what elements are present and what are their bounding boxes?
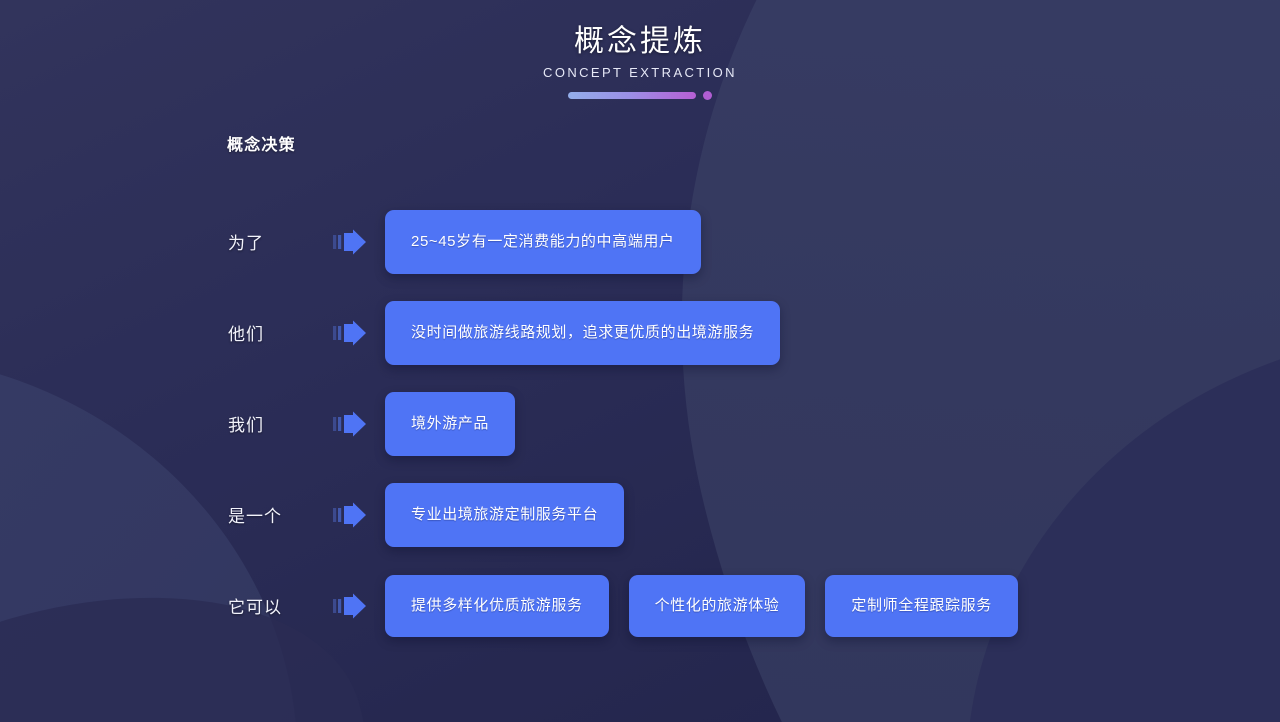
concept-row: 我们境外游产品 [0, 378, 1280, 469]
concept-card[interactable]: 专业出境旅游定制服务平台 [385, 483, 624, 547]
concept-card[interactable]: 25~45岁有一定消费能力的中高端用户 [385, 210, 701, 274]
row-label: 他们 [228, 320, 333, 345]
row-label: 是一个 [228, 502, 333, 527]
slide-canvas: 概念提炼 CONCEPT EXTRACTION 概念决策 为了25~45岁有一定… [0, 0, 1280, 722]
fast-forward-arrow-icon [333, 320, 385, 346]
concept-card[interactable]: 提供多样化优质旅游服务 [385, 575, 609, 637]
fast-forward-arrow-icon [333, 593, 385, 619]
row-card-group: 专业出境旅游定制服务平台 [385, 483, 624, 547]
concept-card[interactable]: 定制师全程跟踪服务 [825, 575, 1017, 637]
accent-dot-icon [703, 91, 712, 100]
concept-row: 它可以提供多样化优质旅游服务个性化的旅游体验定制师全程跟踪服务 [0, 560, 1280, 651]
concept-card[interactable]: 个性化的旅游体验 [629, 575, 806, 637]
row-label: 我们 [228, 411, 333, 436]
row-label: 它可以 [228, 593, 333, 618]
row-card-group: 境外游产品 [385, 392, 515, 456]
title-underline [0, 91, 1280, 100]
fast-forward-arrow-icon [333, 411, 385, 437]
page-subtitle: CONCEPT EXTRACTION [0, 64, 1280, 82]
concept-card[interactable]: 境外游产品 [385, 392, 515, 456]
row-card-group: 25~45岁有一定消费能力的中高端用户 [385, 210, 701, 274]
page-title: 概念提炼 [0, 22, 1280, 62]
slide-header: 概念提炼 CONCEPT EXTRACTION [0, 22, 1280, 100]
concept-rows: 为了25~45岁有一定消费能力的中高端用户他们没时间做旅游线路规划，追求更优质的… [0, 196, 1280, 651]
concept-row: 他们没时间做旅游线路规划，追求更优质的出境游服务 [0, 287, 1280, 378]
gradient-bar [568, 92, 696, 99]
row-card-group: 没时间做旅游线路规划，追求更优质的出境游服务 [385, 301, 780, 365]
fast-forward-arrow-icon [333, 502, 385, 528]
row-label: 为了 [228, 229, 333, 254]
concept-card[interactable]: 没时间做旅游线路规划，追求更优质的出境游服务 [385, 301, 780, 365]
concept-row: 是一个专业出境旅游定制服务平台 [0, 469, 1280, 560]
section-heading: 概念决策 [227, 134, 296, 158]
row-card-group: 提供多样化优质旅游服务个性化的旅游体验定制师全程跟踪服务 [385, 575, 1018, 637]
fast-forward-arrow-icon [333, 229, 385, 255]
concept-row: 为了25~45岁有一定消费能力的中高端用户 [0, 196, 1280, 287]
